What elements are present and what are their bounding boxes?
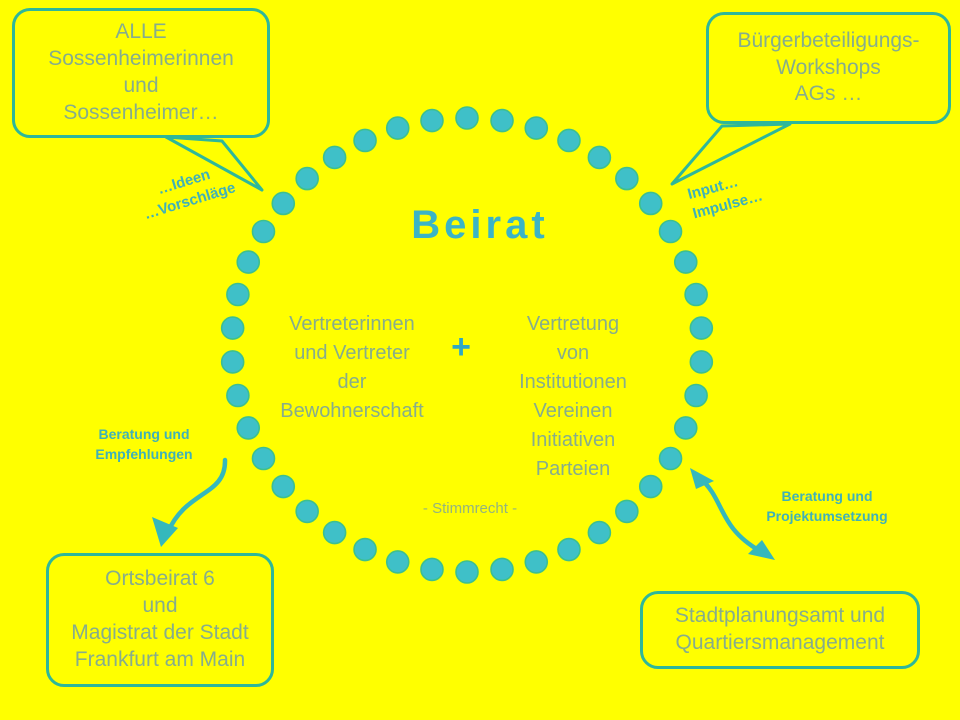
ring-dot [227, 283, 249, 305]
ring-dot [421, 110, 443, 132]
center-column-bewohnerschaft: Vertreterinnen und Vertreter der Bewohne… [262, 310, 442, 426]
ring-dot [558, 129, 580, 151]
ring-dot [616, 500, 638, 522]
ring-dot [324, 146, 346, 168]
center-footnote-stimmrecht: - Stimmrecht - [360, 500, 580, 517]
ring-dot [387, 117, 409, 139]
speech-bubble-workshops: Bürgerbeteiligungs- Workshops AGs … [706, 12, 951, 124]
ring-dot [525, 117, 547, 139]
plus-icon: + [441, 330, 481, 364]
box-ortsbeirat: Ortsbeirat 6 und Magistrat der Stadt Fra… [46, 553, 274, 687]
ring-dot [237, 417, 259, 439]
ring-dot [690, 317, 712, 339]
box-ortsbeirat-text: Ortsbeirat 6 und Magistrat der Stadt Fra… [71, 566, 248, 674]
ring-dot [237, 251, 259, 273]
ring-dot [690, 351, 712, 373]
ring-dot [324, 522, 346, 544]
ring-dot [685, 283, 707, 305]
ring-dot [588, 522, 610, 544]
ring-dot [354, 539, 376, 561]
ring-dot [222, 317, 244, 339]
ring-dot [227, 385, 249, 407]
box-stadtplanungsamt-text: Stadtplanungsamt und Quartiersmanagement [675, 603, 885, 657]
ring-dot [296, 500, 318, 522]
ring-dot [354, 129, 376, 151]
ring-dot [525, 551, 547, 573]
speech-bubble-workshops-text: Bürgerbeteiligungs- Workshops AGs … [737, 28, 919, 109]
ring-dot [675, 251, 697, 273]
arrow-stadtplanung-head-up [690, 468, 714, 489]
annotation-beratung-projektumsetzung: Beratung und Projektumsetzung [742, 487, 912, 526]
ring-dot [588, 146, 610, 168]
ring-dot [387, 551, 409, 573]
arrow-to-ortsbeirat [168, 460, 225, 532]
ring-dot [491, 558, 513, 580]
ring-dot [675, 417, 697, 439]
ring-dot [222, 351, 244, 373]
ring-dot [296, 168, 318, 190]
ring-dot [558, 539, 580, 561]
ring-dot [252, 448, 274, 470]
ring-dot [456, 107, 478, 129]
center-column-institutionen: Vertretung von Institutionen Vereinen In… [480, 310, 666, 484]
ring-dot [272, 476, 294, 498]
speech-bubble-all-sossenheimer-text: ALLE Sossenheimerinnen und Sossenheimer… [48, 19, 234, 127]
box-stadtplanungsamt: Stadtplanungsamt und Quartiersmanagement [640, 591, 920, 669]
diagram-canvas: ALLE Sossenheimerinnen und Sossenheimer…… [0, 0, 960, 720]
ring-dot [421, 558, 443, 580]
arrow-stadtplanung-head-down [748, 540, 775, 560]
annotation-beratung-empfehlungen: Beratung und Empfehlungen [74, 425, 214, 464]
ring-dot [616, 168, 638, 190]
speech-bubble-all-sossenheimer: ALLE Sossenheimerinnen und Sossenheimer… [12, 8, 270, 138]
arrow-to-ortsbeirat-head [152, 517, 178, 547]
ring-dot [491, 110, 513, 132]
ring-dot [456, 561, 478, 583]
ring-dot [685, 385, 707, 407]
